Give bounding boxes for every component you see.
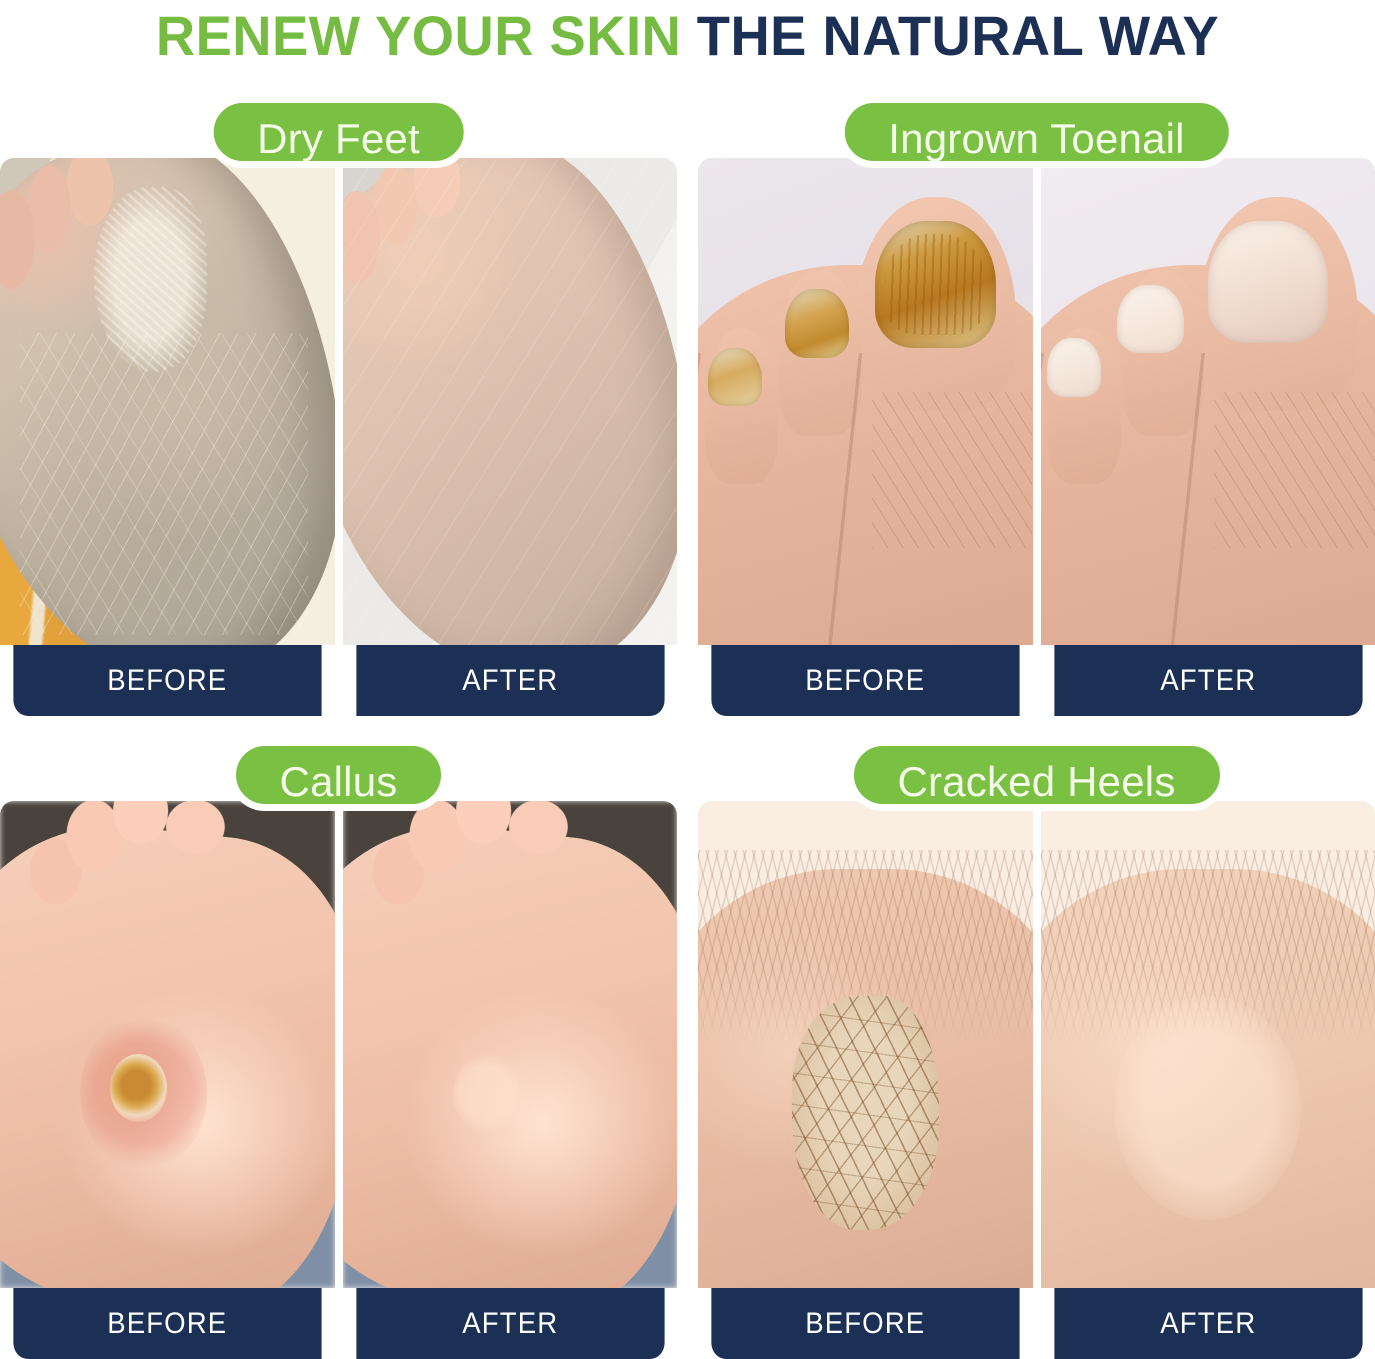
after-label-callus: AFTER	[356, 1288, 664, 1359]
before-after-bar-ingrown-toenail: BEFORE AFTER	[698, 645, 1375, 716]
before-label-dry-feet: BEFORE	[13, 645, 321, 716]
comparison-card-grid: Dry Feet BEFORE AFTER	[0, 96, 1375, 1359]
before-photo-dry-feet	[0, 158, 335, 645]
after-label-cracked-heels: AFTER	[1054, 1288, 1362, 1359]
before-label-callus: BEFORE	[13, 1288, 321, 1359]
after-photo-cracked-heels	[1041, 801, 1375, 1288]
after-label-text: AFTER	[462, 1307, 558, 1341]
card-title-ingrown-toenail: Ingrown Toenail	[837, 96, 1235, 168]
after-label-dry-feet: AFTER	[356, 645, 664, 716]
photo-pair-callus	[0, 801, 677, 1288]
photo-pair-ingrown-toenail	[698, 158, 1375, 645]
after-photo-dry-feet	[343, 158, 678, 645]
before-after-bar-dry-feet: BEFORE AFTER	[0, 645, 677, 716]
photo-pair-cracked-heels	[698, 801, 1375, 1288]
before-photo-callus	[0, 801, 335, 1288]
before-after-bar-cracked-heels: BEFORE AFTER	[698, 1288, 1375, 1359]
before-label-text: BEFORE	[805, 1307, 925, 1341]
card-title-cracked-heels: Cracked Heels	[846, 739, 1226, 811]
after-label-text: AFTER	[462, 664, 558, 698]
before-label-text: BEFORE	[107, 664, 227, 698]
after-label-text: AFTER	[1160, 1307, 1256, 1341]
before-photo-ingrown-toenail	[698, 158, 1033, 645]
after-photo-ingrown-toenail	[1041, 158, 1375, 645]
product-benefit-infographic: RENEW YOUR SKIN THE NATURAL WAY	[0, 0, 1375, 1359]
headline-green-text: RENEW YOUR SKIN	[156, 3, 681, 68]
after-label-ingrown-toenail: AFTER	[1054, 645, 1362, 716]
headline-navy-text: THE NATURAL WAY	[697, 3, 1219, 68]
comparison-card-dry-feet: Dry Feet BEFORE AFTER	[0, 96, 677, 716]
card-title-dry-feet: Dry Feet	[206, 96, 471, 168]
before-after-bar-callus: BEFORE AFTER	[0, 1288, 677, 1359]
before-label-text: BEFORE	[107, 1307, 227, 1341]
comparison-card-cracked-heels: Cracked Heels BEFORE AFTER	[698, 739, 1375, 1359]
after-photo-callus	[343, 801, 678, 1288]
page-title: RENEW YOUR SKIN THE NATURAL WAY	[21, 0, 1355, 70]
before-photo-cracked-heels	[698, 801, 1033, 1288]
comparison-card-ingrown-toenail: Ingrown Toenail BEFORE AFTER	[698, 96, 1375, 716]
after-label-text: AFTER	[1160, 664, 1256, 698]
before-label-ingrown-toenail: BEFORE	[711, 645, 1019, 716]
photo-pair-dry-feet	[0, 158, 677, 645]
before-label-text: BEFORE	[805, 664, 925, 698]
comparison-card-callus: Callus BEFORE AFTER	[0, 739, 677, 1359]
card-title-callus: Callus	[229, 739, 449, 811]
before-label-cracked-heels: BEFORE	[711, 1288, 1019, 1359]
